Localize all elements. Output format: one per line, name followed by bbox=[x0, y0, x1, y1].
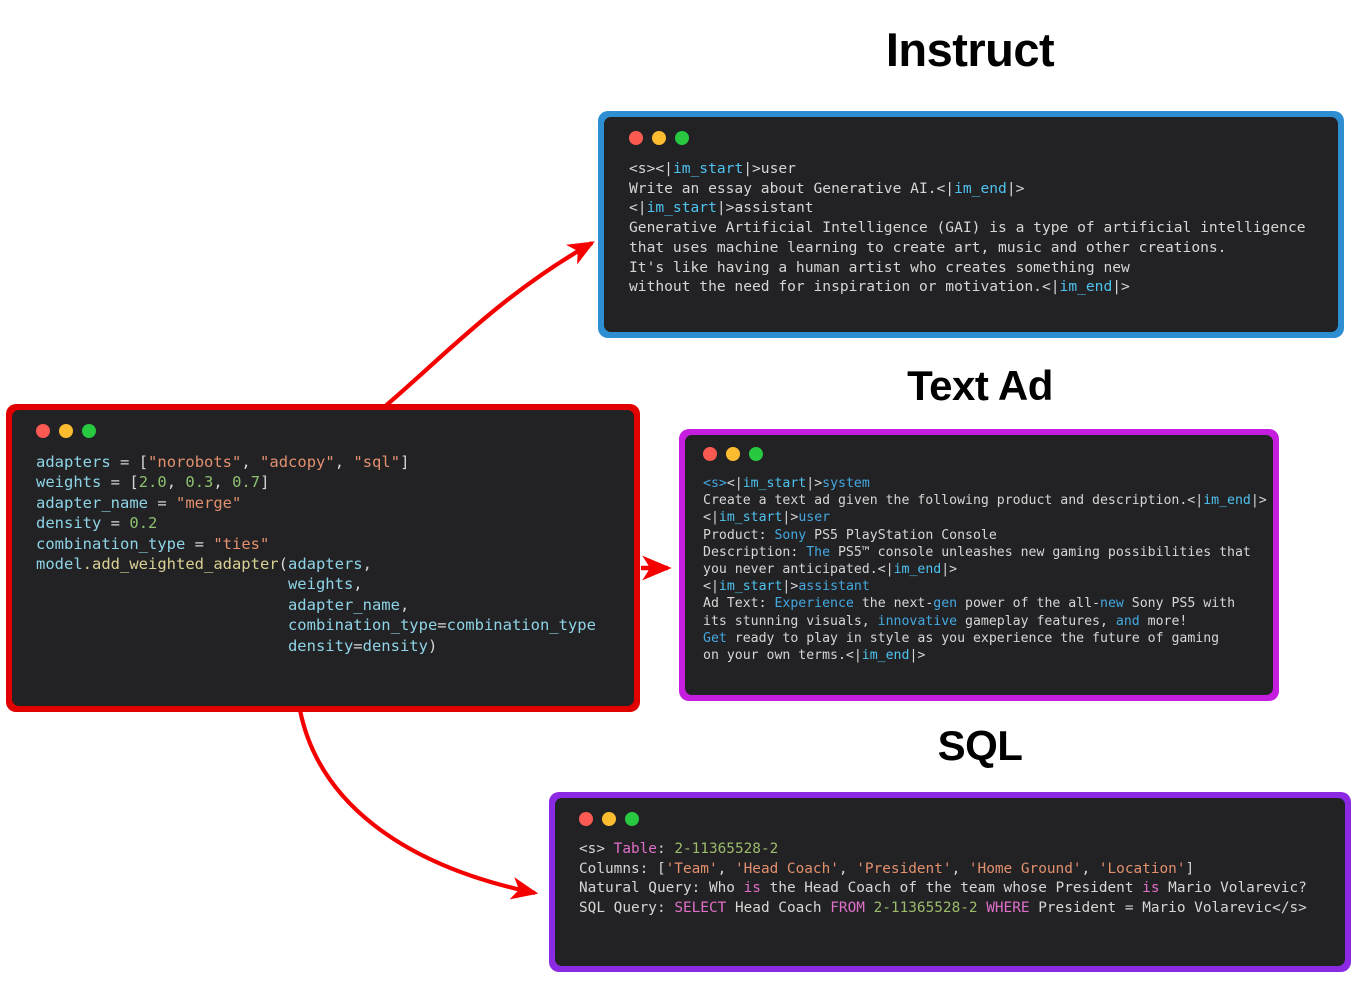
diagram-canvas: Instruct Text Ad SQL adapters = ["norobo… bbox=[0, 0, 1367, 1006]
section-title-instruct: Instruct bbox=[780, 22, 1160, 77]
output-window-sql[interactable]: <s> Table: 2-11365528-2 Columns: ['Team'… bbox=[549, 792, 1351, 972]
minimize-dot-icon[interactable] bbox=[602, 812, 616, 826]
close-dot-icon[interactable] bbox=[629, 131, 643, 145]
window-controls[interactable] bbox=[36, 424, 618, 438]
sql-output-text: <s> Table: 2-11365528-2 Columns: ['Team'… bbox=[579, 840, 1329, 918]
maximize-dot-icon[interactable] bbox=[675, 131, 689, 145]
close-dot-icon[interactable] bbox=[36, 424, 50, 438]
arrow-merge-to-instruct bbox=[383, 243, 592, 408]
minimize-dot-icon[interactable] bbox=[726, 447, 740, 461]
minimize-dot-icon[interactable] bbox=[59, 424, 73, 438]
merge-code-text: adapters = ["norobots", "adcopy", "sql"]… bbox=[36, 452, 618, 656]
instruct-output-text: <s><|im_start|>user Write an essay about… bbox=[629, 159, 1322, 297]
output-window-text-ad-body: <s><|im_start|>system Create a text ad g… bbox=[685, 435, 1273, 695]
output-window-text-ad[interactable]: <s><|im_start|>system Create a text ad g… bbox=[679, 429, 1279, 701]
minimize-dot-icon[interactable] bbox=[652, 131, 666, 145]
window-controls[interactable] bbox=[629, 131, 1322, 145]
window-controls[interactable] bbox=[703, 447, 1257, 461]
maximize-dot-icon[interactable] bbox=[749, 447, 763, 461]
close-dot-icon[interactable] bbox=[703, 447, 717, 461]
window-controls[interactable] bbox=[579, 812, 1329, 826]
section-title-text-ad: Text Ad bbox=[790, 362, 1170, 410]
maximize-dot-icon[interactable] bbox=[625, 812, 639, 826]
output-window-sql-body: <s> Table: 2-11365528-2 Columns: ['Team'… bbox=[555, 798, 1345, 966]
close-dot-icon[interactable] bbox=[579, 812, 593, 826]
output-window-instruct-body: <s><|im_start|>user Write an essay about… bbox=[604, 117, 1338, 332]
section-title-sql: SQL bbox=[790, 722, 1170, 770]
code-window-merge[interactable]: adapters = ["norobots", "adcopy", "sql"]… bbox=[6, 404, 640, 712]
arrow-merge-to-sql bbox=[300, 710, 535, 893]
code-window-merge-body: adapters = ["norobots", "adcopy", "sql"]… bbox=[12, 410, 634, 706]
output-window-instruct[interactable]: <s><|im_start|>user Write an essay about… bbox=[598, 111, 1344, 338]
text-ad-output-text: <s><|im_start|>system Create a text ad g… bbox=[703, 475, 1257, 664]
maximize-dot-icon[interactable] bbox=[82, 424, 96, 438]
